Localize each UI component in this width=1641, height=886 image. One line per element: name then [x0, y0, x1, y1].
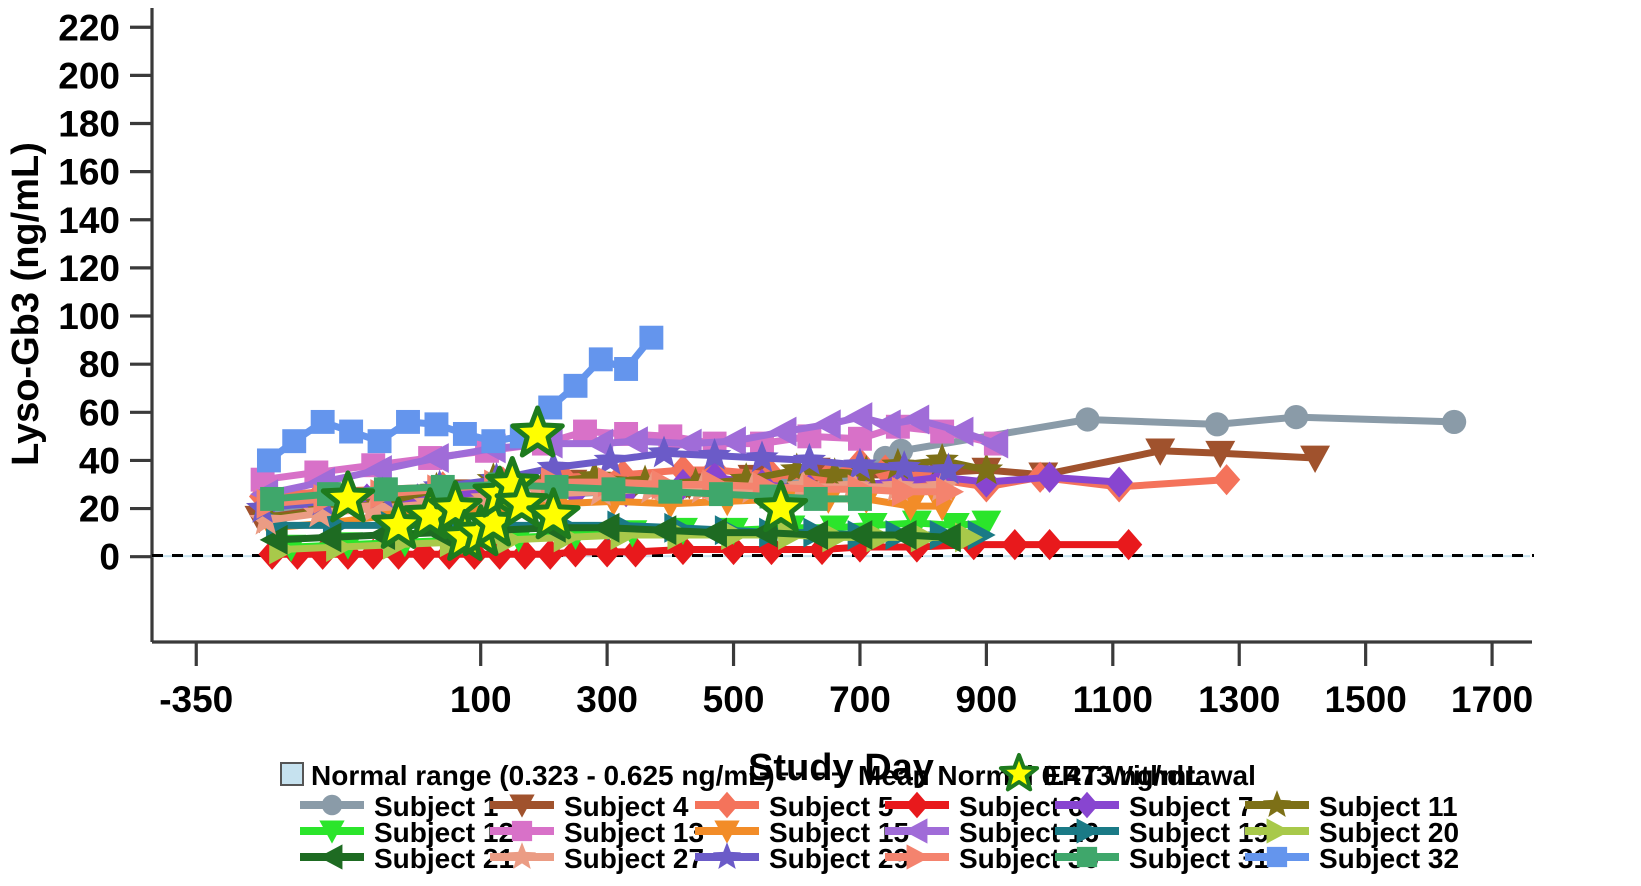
x-tick-label: 1700	[1451, 679, 1533, 720]
legend-item-subject-27: Subject 27	[490, 842, 704, 874]
y-tick-label: 120	[58, 248, 120, 289]
x-tick-label: 1300	[1198, 679, 1280, 720]
marker-square	[512, 821, 532, 841]
marker-square	[339, 420, 363, 444]
marker-diamond	[715, 792, 738, 818]
y-tick-label: 140	[58, 200, 120, 241]
legend-item-subject-32: Subject 32	[1245, 843, 1459, 874]
y-tick-label: 60	[79, 392, 120, 433]
marker-square	[374, 477, 398, 501]
y-tick-label: 100	[58, 296, 120, 337]
marker-square	[260, 487, 284, 511]
x-tick-label: 1100	[1073, 679, 1153, 720]
marker-square	[601, 477, 625, 501]
marker-square	[709, 482, 733, 506]
marker-square	[589, 347, 613, 371]
marker-circle	[1442, 410, 1466, 434]
marker-circle	[1205, 412, 1229, 436]
legend-swatch	[695, 792, 759, 818]
data-series-group	[245, 326, 1467, 570]
legend-swatch	[885, 792, 949, 818]
y-tick-label: 20	[79, 489, 120, 530]
y-tick-label: 180	[58, 104, 120, 145]
marker-square	[848, 487, 872, 511]
legend-swatch	[490, 795, 554, 818]
marker-square	[848, 427, 872, 451]
chart-canvas: 020406080100120140160180200220-350100300…	[0, 0, 1641, 886]
normal-range-swatch-icon	[281, 763, 303, 785]
marker-square	[282, 429, 306, 453]
marker-star	[713, 842, 741, 869]
x-tick-label: 900	[956, 679, 1018, 720]
marker-square	[368, 429, 392, 453]
y-axis-label: Lyso-Gb3 (ng/mL)	[5, 142, 47, 466]
marker-square	[257, 448, 281, 472]
legend-swatch	[1245, 790, 1309, 817]
legend-swatch	[281, 763, 303, 785]
y-tick-label: 200	[58, 55, 120, 96]
marker-square	[564, 374, 588, 398]
marker-triangle-left	[699, 518, 727, 548]
legend-swatch	[695, 821, 759, 844]
marker-circle	[1075, 407, 1099, 431]
marker-square	[311, 410, 335, 434]
legend-item-subject-21: Subject 21	[300, 843, 514, 874]
y-tick-label: 220	[58, 7, 120, 48]
marker-circle	[322, 795, 342, 815]
legend-item-normal-range: Normal range (0.323 - 0.625 ng/mL)	[281, 760, 775, 791]
marker-square	[453, 422, 477, 446]
marker-triangle-left	[648, 515, 676, 545]
x-tick-label: 100	[450, 679, 512, 720]
x-tick-label: -350	[159, 679, 233, 720]
marker-diamond	[1105, 466, 1132, 497]
x-tick-label: 1500	[1324, 679, 1406, 720]
y-tick-label: 80	[79, 344, 120, 385]
axes-group: 020406080100120140160180200220-350100300…	[5, 7, 1533, 789]
legend-swatch	[300, 844, 364, 869]
legend-swatch	[300, 821, 364, 844]
y-tick-label: 160	[58, 152, 120, 193]
legend-item-label: Subject 27	[564, 843, 704, 874]
marker-triangle-right	[907, 844, 931, 869]
x-tick-label: 700	[829, 679, 891, 720]
marker-square	[481, 429, 505, 453]
legend-item-subject-29: Subject 29	[695, 842, 909, 874]
marker-star	[1263, 790, 1291, 817]
y-tick-label: 0	[99, 537, 120, 578]
marker-circle	[1284, 405, 1308, 429]
x-tick-label: 300	[576, 679, 638, 720]
marker-square	[1077, 847, 1097, 867]
marker-square	[614, 357, 638, 381]
marker-square	[639, 326, 663, 350]
x-tick-label: 500	[703, 679, 765, 720]
legend: Normal range (0.323 - 0.625 ng/mL)Mean N…	[281, 755, 1459, 874]
marker-triangle-left	[319, 844, 343, 869]
lyso-gb3-chart-figure: 020406080100120140160180200220-350100300…	[0, 0, 1641, 886]
marker-square	[424, 412, 448, 436]
marker-triangle-right	[1267, 818, 1291, 843]
legend-item-label: Subject 32	[1319, 843, 1459, 874]
marker-diamond	[905, 792, 928, 818]
legend-item-label: Normal range (0.323 - 0.625 ng/mL)	[311, 760, 775, 791]
marker-square	[1267, 847, 1287, 867]
marker-diamond	[1213, 464, 1240, 495]
legend-swatch	[695, 842, 759, 869]
legend-swatch	[300, 795, 364, 815]
y-tick-label: 40	[79, 440, 120, 481]
marker-square	[658, 480, 682, 504]
marker-square	[396, 410, 420, 434]
legend-item-label: ERT Withdrawal	[1043, 760, 1256, 791]
